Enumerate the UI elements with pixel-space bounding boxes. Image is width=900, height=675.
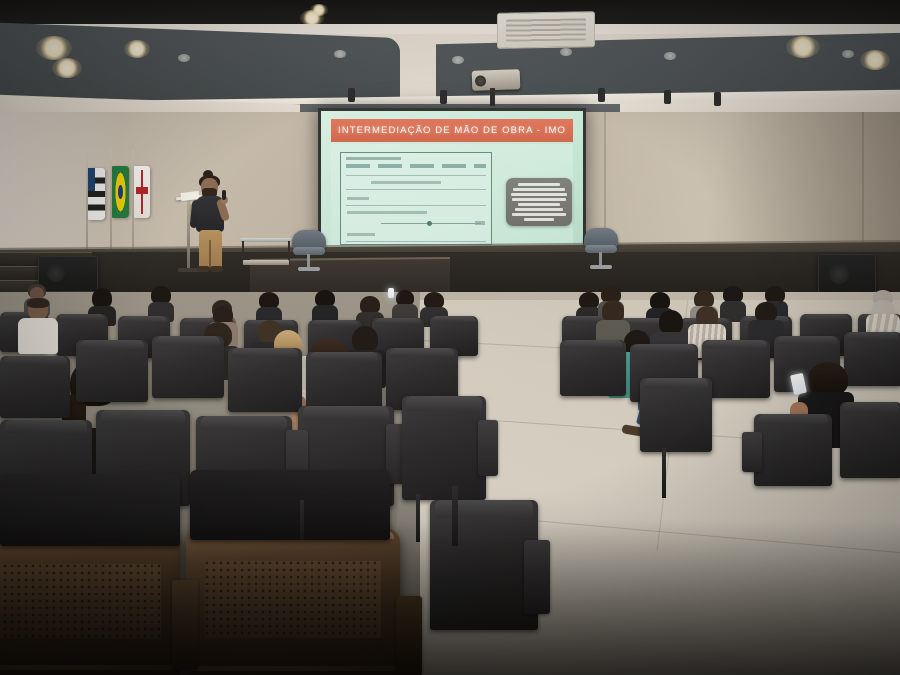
track-spotlight — [598, 88, 605, 102]
flag-canton — [88, 168, 95, 191]
recessed-spot — [842, 50, 854, 58]
foreground-shadow — [0, 520, 900, 675]
ceiling-projector — [472, 69, 521, 91]
attendee — [148, 286, 174, 318]
presenter-shoe-left — [197, 266, 210, 272]
recessed-spot — [334, 50, 346, 58]
flag-cross-horizontal — [136, 187, 148, 194]
seat[interactable] — [76, 340, 148, 402]
stage-chair-right — [584, 228, 618, 270]
seat[interactable] — [640, 378, 712, 452]
seat[interactable] — [560, 340, 626, 396]
projector-lens — [475, 75, 486, 86]
presenter-shoe-right — [210, 266, 223, 272]
stage-chair-left — [292, 230, 326, 272]
ceiling-dark-strip — [0, 0, 900, 26]
seat[interactable] — [754, 414, 832, 486]
sao-paulo-state-flag — [88, 168, 105, 220]
recessed-spot — [452, 56, 464, 64]
seat-leg — [662, 448, 666, 498]
form-rule — [346, 205, 486, 206]
slide-form-panel — [340, 152, 492, 245]
seat[interactable] — [840, 402, 900, 478]
form-field-line — [347, 211, 427, 214]
presenter-leg-separation — [209, 240, 211, 268]
smartphone — [388, 288, 394, 298]
cart-top-shelf — [240, 238, 292, 242]
presenter — [190, 178, 230, 274]
form-heading-line — [346, 157, 401, 160]
brazil-flag — [112, 166, 129, 218]
track-spotlight — [348, 88, 355, 102]
slide-title: INTERMEDIAÇÃO DE MÃO DE OBRA - IMO — [338, 125, 566, 136]
downlight — [124, 40, 150, 58]
form-field-line — [371, 181, 441, 184]
form-tab-row — [346, 164, 486, 168]
projected-slide: INTERMEDIAÇÃO DE MÃO DE OBRA - IMO — [321, 111, 583, 263]
projector-mount — [490, 88, 495, 106]
seat[interactable] — [0, 356, 70, 418]
armrest — [742, 432, 762, 472]
recessed-spot — [664, 52, 676, 60]
armrest — [478, 420, 498, 476]
seat[interactable] — [402, 396, 486, 500]
attendee-white-shirt-left — [18, 300, 58, 352]
form-rule — [346, 175, 486, 176]
form-field-label — [347, 233, 375, 236]
form-slider-knob — [427, 221, 432, 226]
seat[interactable] — [152, 336, 224, 398]
slide-title-bar: INTERMEDIAÇÃO DE MÃO DE OBRA - IMO — [331, 119, 573, 142]
air-conditioning-vent — [497, 11, 595, 49]
form-rule — [346, 241, 486, 242]
slide-callout-box — [506, 178, 572, 226]
speaker-cone — [47, 264, 65, 282]
recessed-spot — [178, 54, 190, 62]
track-spotlight — [714, 92, 721, 106]
form-field-label — [347, 197, 369, 200]
form-rule — [346, 189, 486, 190]
flag-globe — [118, 185, 123, 200]
auditorium-scene: INTERMEDIAÇÃO DE MÃO DE OBRA - IMO — [0, 0, 900, 675]
seat[interactable] — [228, 348, 302, 412]
equipment-cart — [240, 238, 292, 268]
cart-lower-shelf — [243, 260, 289, 265]
speaker-cone — [829, 264, 849, 284]
downlight — [36, 36, 72, 60]
track-spotlight — [440, 90, 447, 104]
form-value-chip — [475, 221, 485, 225]
track-spotlight — [664, 90, 671, 104]
attendee-with-phone-center — [392, 288, 418, 322]
attendee — [312, 290, 338, 322]
downlight — [786, 36, 820, 58]
slide-body — [331, 144, 573, 255]
downlight — [860, 50, 890, 70]
municipal-flag — [134, 166, 150, 218]
recessed-spot — [560, 48, 572, 56]
seat[interactable] — [702, 340, 770, 398]
handheld-microphone — [222, 190, 226, 200]
downlight — [310, 4, 328, 16]
vent-grille — [506, 18, 586, 41]
downlight — [52, 58, 82, 78]
